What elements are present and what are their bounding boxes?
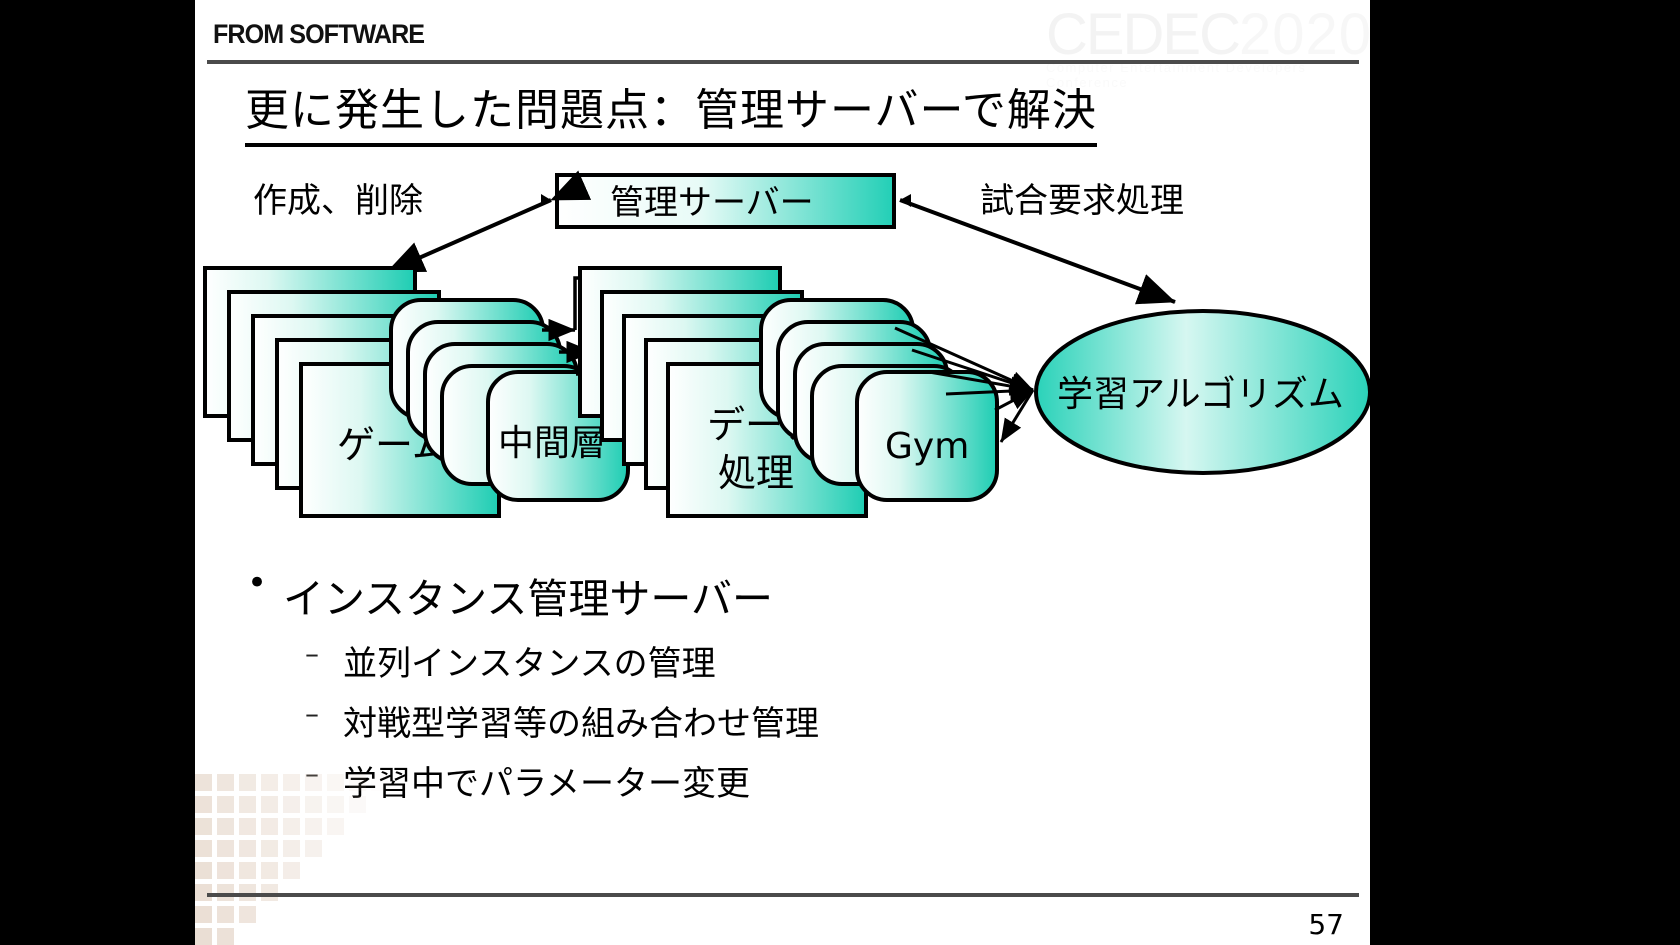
cedec-logo-year: 2020 [1239, 6, 1370, 64]
bullet-list: • インスタンス管理サーバー – 並列インスタンスの管理 – 対戦型学習等の組み… [235, 565, 1335, 805]
fromsoftware-brand: FROM SOFTWARE [213, 19, 424, 50]
stack-middleware-label: 中間層 [498, 423, 606, 464]
cedec-logo-primary: CEDEC [1046, 6, 1239, 64]
page-title: 更に発生した問題点：管理サーバーで解決 [245, 74, 1097, 147]
management-server-box: 管理サーバー [557, 175, 894, 227]
learning-algorithm-label: 学習アルゴリズム [1057, 374, 1344, 415]
management-server-label: 管理サーバー [610, 183, 814, 223]
bullet-level2-text: 並列インスタンスの管理 [343, 636, 716, 685]
header-divider [207, 60, 1359, 64]
stack-dataproc-label-2: 処理 [718, 451, 794, 495]
bullet-level2-0: – 並列インスタンスの管理 [305, 636, 1335, 685]
learning-algorithm-ellipse: 学習アルゴリズム [1036, 311, 1370, 473]
label-match-request: 試合要求処理 [980, 181, 1184, 221]
bullet-glyph: • [247, 565, 283, 602]
label-create-delete: 作成、削除 [253, 181, 423, 221]
cedec-logo: CEDEC 2020 Computer Entertainment Develo… [1046, 6, 1370, 68]
page-number: 57 [1308, 908, 1344, 941]
bullet-level2-1: – 対戦型学習等の組み合わせ管理 [305, 696, 1335, 745]
bullet-level2-2: – 学習中でパラメーター変更 [305, 756, 1335, 805]
dash-glyph: – [305, 756, 343, 791]
stack-gym-label: Gym [885, 426, 969, 467]
screen: CEDEC 2020 Computer Entertainment Develo… [0, 0, 1680, 945]
architecture-diagram: 管理サーバー 作成、削除 試合要求処理 [195, 150, 1370, 550]
dash-glyph: – [305, 636, 343, 671]
bullet-level2-text: 学習中でパラメーター変更 [343, 756, 750, 805]
bullet-level1-text: インスタンス管理サーバー [283, 565, 773, 625]
bullet-level2-text: 対戦型学習等の組み合わせ管理 [343, 696, 819, 745]
footer-divider [207, 893, 1359, 897]
bullet-level1: • インスタンス管理サーバー [247, 565, 1335, 625]
dash-glyph: – [305, 696, 343, 731]
slide-canvas: CEDEC 2020 Computer Entertainment Develo… [195, 0, 1370, 945]
